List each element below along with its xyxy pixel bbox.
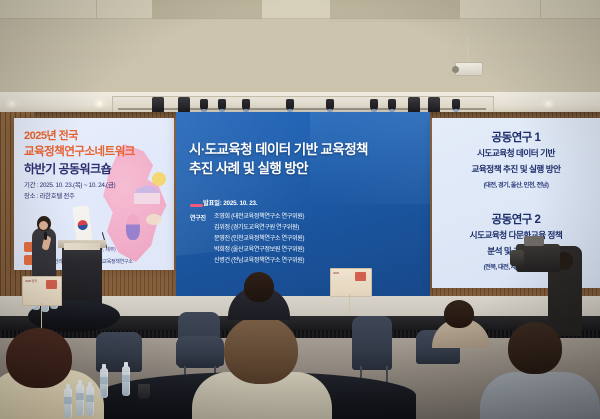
projector-mount-rod xyxy=(467,36,469,62)
left-panel-title-line3: 하반기 공동워크숍 xyxy=(24,160,111,177)
coresearch-1-regions: (대전, 경기, 울산, 인천, 전남) xyxy=(432,180,600,189)
hanbok-figure-illustration xyxy=(126,214,140,240)
stage-spotlight-icon xyxy=(452,99,460,110)
coresearch-1-line1: 시도교육청 데이터 기반 xyxy=(432,147,600,159)
audience-person-shoulders xyxy=(480,372,600,419)
list-item: 신병건 (전남교육정책연구소 연구위원) xyxy=(214,255,304,266)
audience-person-head xyxy=(244,272,274,302)
left-panel-title-line1: 2025년 전국 xyxy=(24,127,78,143)
left-panel-title-line2: 교육정책연구소네트워크 xyxy=(24,143,135,159)
downlight-icon xyxy=(8,101,15,106)
downlight-icon xyxy=(96,101,103,106)
ceiling-projector xyxy=(455,62,483,76)
slide-title-line1: 시·도교육청 데이터 기반 교육정책 xyxy=(189,141,421,160)
water-bottle-icon xyxy=(76,384,84,416)
left-panel-date: 기간 : 2025. 10. 23.(목) ~ 10. 24.(금) xyxy=(24,180,115,189)
conference-hall-screenshot: 2025년 전국 교육정책연구소네트워크 하반기 공동워크숍 기간 : 2025… xyxy=(0,0,600,419)
lectern xyxy=(62,243,102,305)
slide-title-line2: 추진 사례 및 실행 방안 xyxy=(189,160,421,179)
placard-logo-icon xyxy=(355,272,366,281)
coresearch-1-heading: 공동연구 1 xyxy=(432,129,600,145)
projector-lens-icon xyxy=(452,66,459,73)
decor-circle-icon xyxy=(146,214,162,225)
accent-bar xyxy=(190,204,203,207)
camera-lens-icon xyxy=(510,250,524,266)
list-item: 박희정 (울산교육연구정보원 연구위원) xyxy=(214,244,304,255)
presenter-face xyxy=(39,221,48,230)
placard-text: 2025 xyxy=(333,271,339,275)
list-item: 조영희 (대전교육정책연구소 연구위원) xyxy=(214,211,304,222)
lectern-nameplate xyxy=(64,243,100,250)
coresearch-1-line2: 교육정책 추진 및 실행 방안 xyxy=(432,163,600,175)
stage-spotlight-icon xyxy=(242,99,250,110)
coresearch-2-line1: 시도교육청 다문화교육 정책 xyxy=(432,229,600,241)
chair xyxy=(352,316,392,370)
audience-person-head xyxy=(6,328,72,388)
placard-logo-icon xyxy=(46,280,57,289)
slide-role-label: 연구진 xyxy=(190,213,206,222)
left-panel-venue: 장소 : 라한호텔 전주 xyxy=(24,191,75,200)
audience-person-head xyxy=(508,322,562,374)
center-slide-panel[interactable]: 시·도교육청 데이터 기반 교육정책 추진 사례 및 실행 방안 발표일: 20… xyxy=(176,112,430,298)
decor-circle-icon xyxy=(152,172,166,186)
water-bottle-icon xyxy=(86,386,94,416)
water-bottle-icon xyxy=(122,366,130,396)
ceiling xyxy=(0,0,600,96)
stage-spotlight-icon xyxy=(200,99,208,110)
placard-text: 2025 전국 xyxy=(25,279,37,283)
presenter-list: 조영희 (대전교육정책연구소 연구위원) 김위정 (경기도교육연구원 연구위원)… xyxy=(214,211,304,266)
slide-presentation-date: 발표일: 2025. 10. 23. xyxy=(203,198,257,207)
list-item: 문영진 (인천교육정책연구소 연구위원) xyxy=(214,233,304,244)
stage-spotlight-icon xyxy=(326,99,334,110)
audience-person-head xyxy=(444,300,474,328)
water-bottle-icon xyxy=(64,388,72,418)
water-bottle-icon xyxy=(100,368,108,398)
stage-spotlight-icon xyxy=(218,99,226,110)
handheld-microphone-icon xyxy=(44,232,47,240)
camera-hood xyxy=(524,236,544,246)
paper-cup-icon xyxy=(138,384,150,399)
stage-spotlight-icon xyxy=(286,99,294,110)
list-item: 김위정 (경기도교육연구원 연구위원) xyxy=(214,222,304,233)
slide-title: 시·도교육청 데이터 기반 교육정책 추진 사례 및 실행 방안 xyxy=(189,141,421,178)
downlight-icon xyxy=(545,101,552,106)
stage-spotlight-icon xyxy=(388,99,396,110)
audience-person-head xyxy=(224,316,298,384)
coresearch-2-heading: 공동연구 2 xyxy=(432,211,600,227)
chair xyxy=(176,336,224,366)
stage-spotlight-icon xyxy=(370,99,378,110)
